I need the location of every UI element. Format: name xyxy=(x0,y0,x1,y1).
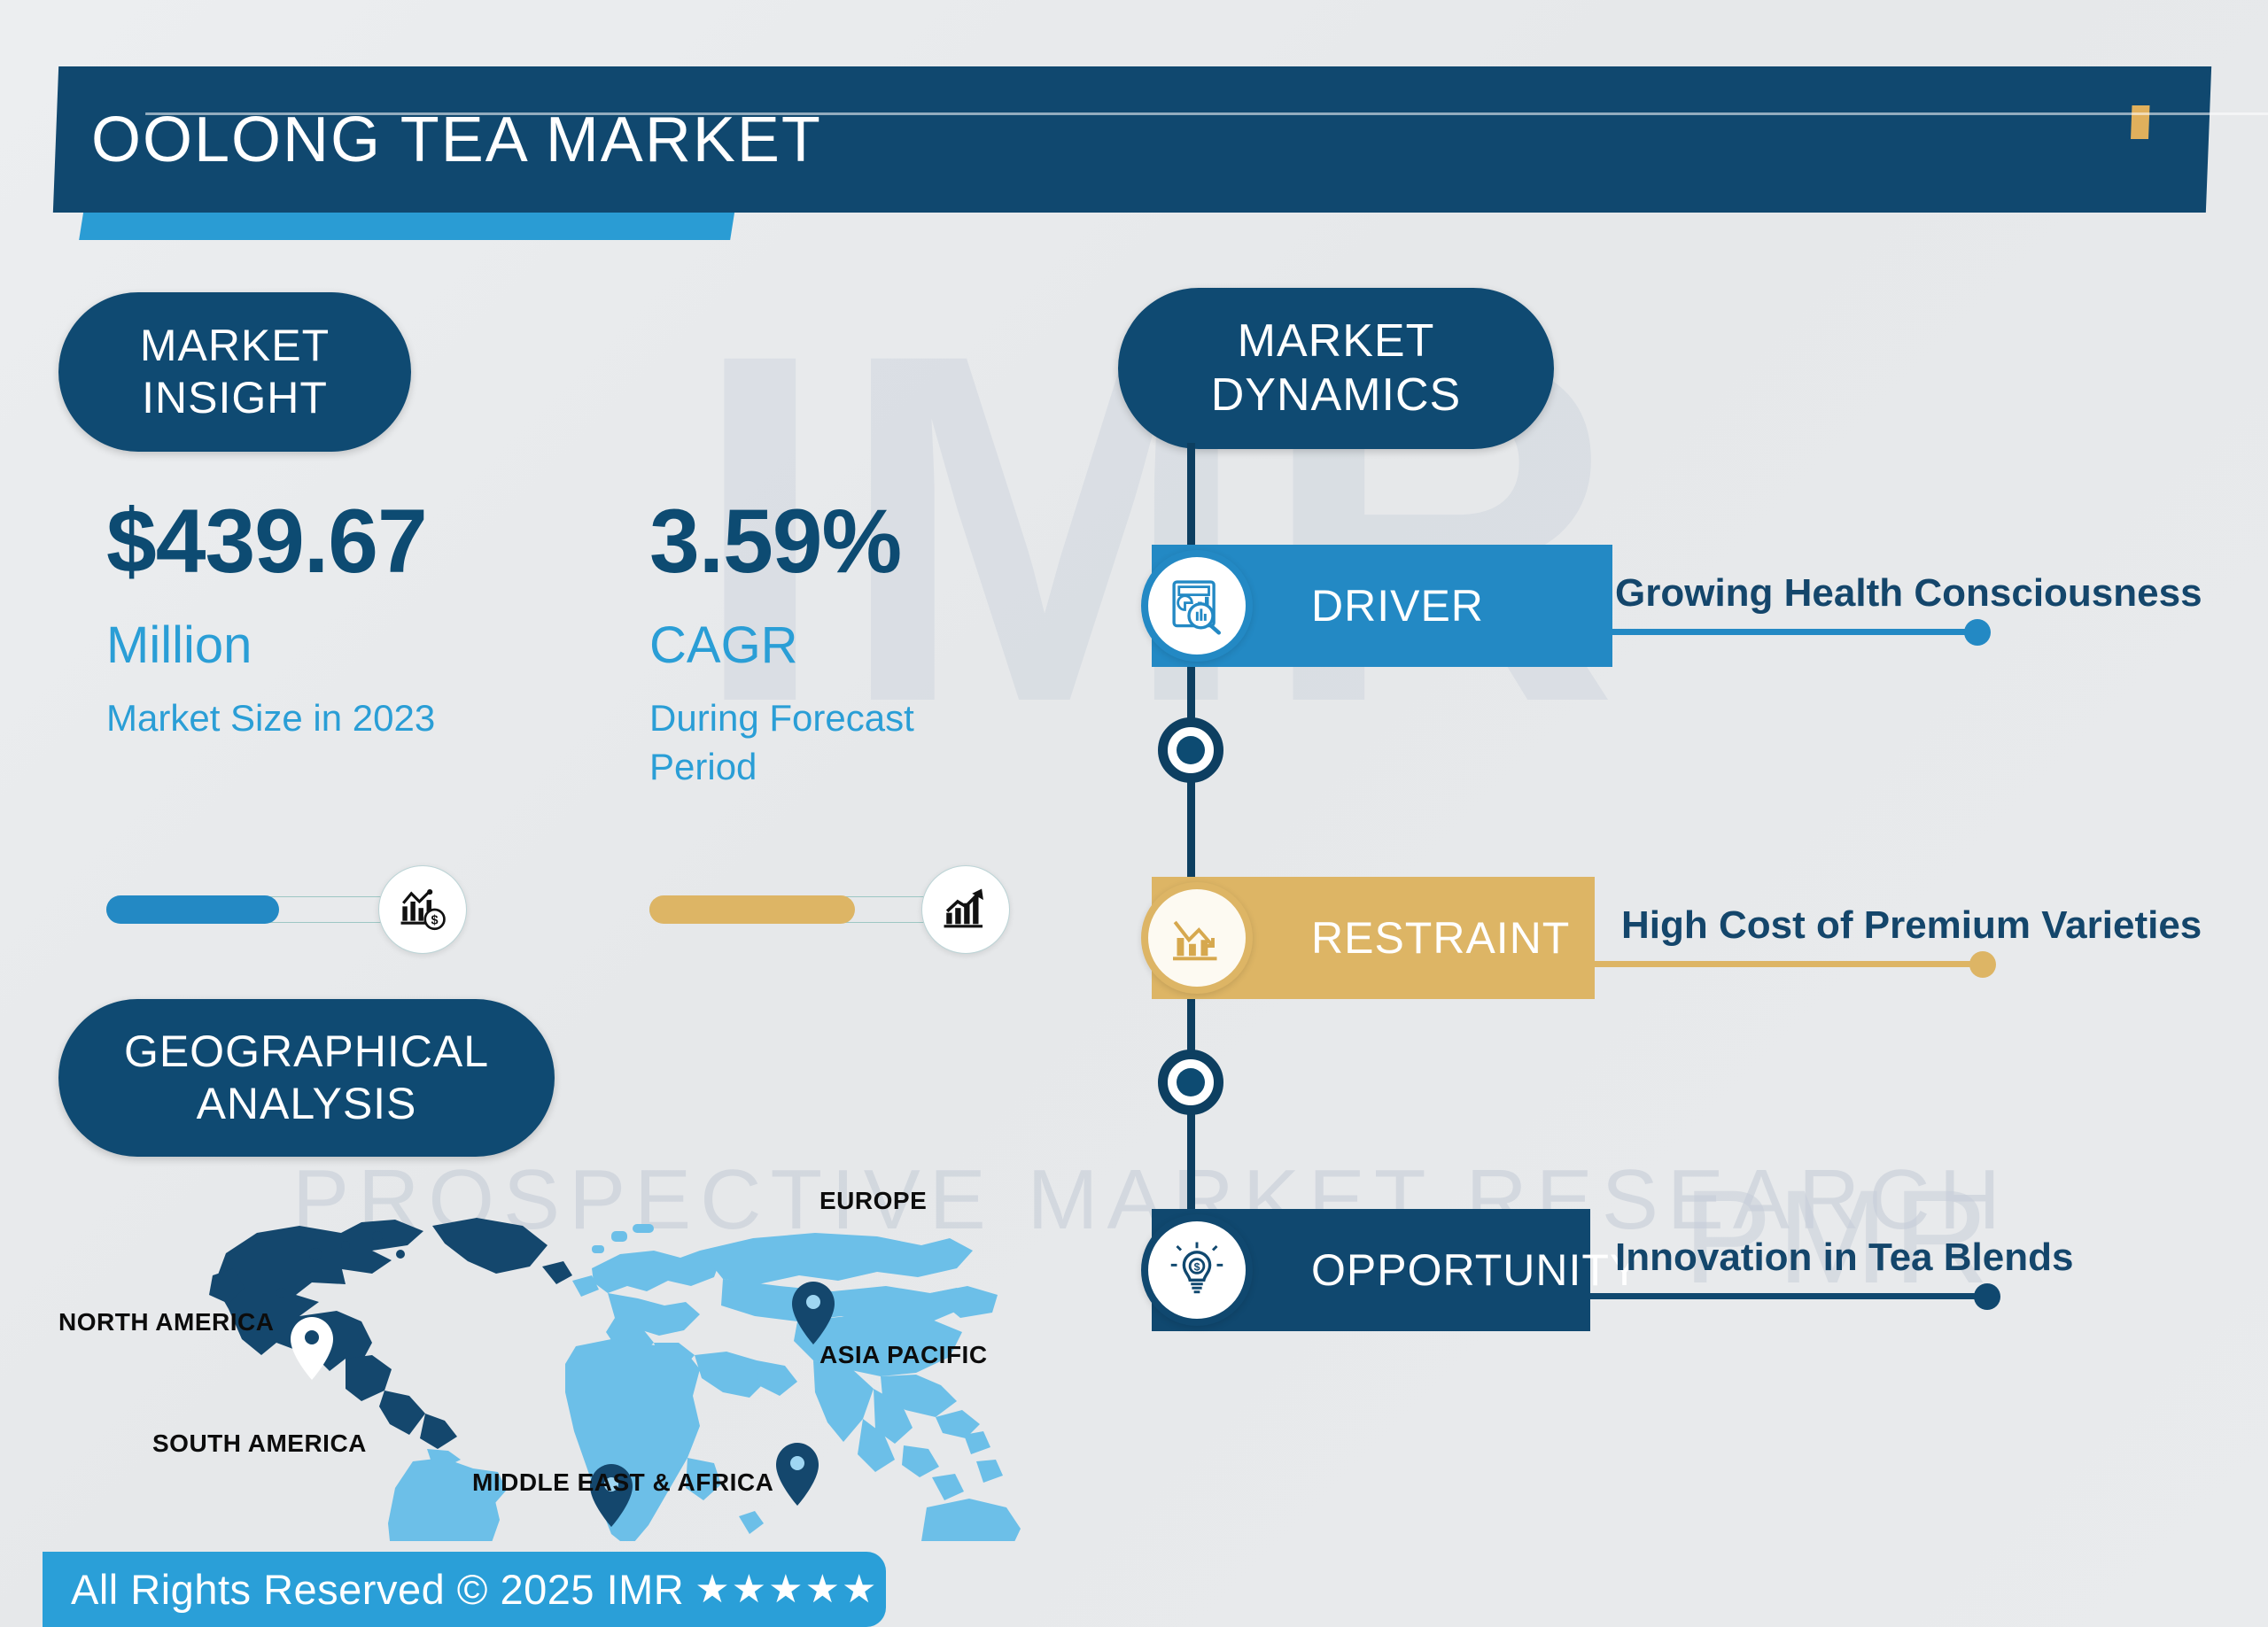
header-hairline xyxy=(145,112,2268,115)
market-insight-badge: MARKET INSIGHT xyxy=(58,292,411,452)
dynamics-node-dot-1 xyxy=(1158,717,1223,783)
map-label-south-america: SOUTH AMERICA xyxy=(152,1429,367,1458)
geo-badge-line2: ANALYSIS xyxy=(197,1078,417,1130)
footer-bar: All Rights Reserved © 2025 IMR ★★★★★ xyxy=(43,1552,886,1627)
declining-bar-chart-icon xyxy=(1141,882,1253,994)
market-insight-badge-line1: MARKET xyxy=(140,320,330,372)
dynamics-opportunity-text: Innovation in Tea Blends xyxy=(1615,1236,2073,1280)
map-label-middle-east-africa: MIDDLE EAST & AFRICA xyxy=(472,1468,773,1497)
copyright-text: All Rights Reserved © 2025 IMR xyxy=(71,1565,684,1614)
market-dynamics-badge: MARKET DYNAMICS xyxy=(1118,288,1554,449)
svg-text:$: $ xyxy=(431,913,439,927)
map-label-north-america: NORTH AMERICA xyxy=(58,1308,274,1336)
bar-chart-dollar-icon: $ xyxy=(378,865,467,954)
dynamics-restraint-connector xyxy=(1595,961,1984,967)
cagr-stat: 3.59% CAGR During Forecast Period xyxy=(649,496,1021,791)
cagr-value: 3.59% xyxy=(649,496,1021,586)
dynamics-opportunity-knob xyxy=(1974,1283,2000,1310)
cagr-subtitle: During Forecast Period xyxy=(649,694,1021,791)
map-region-north-asia xyxy=(700,1233,998,1323)
dynamics-restraint-knob xyxy=(1969,951,1996,978)
market-size-value: $439.67 xyxy=(106,496,435,586)
svg-text:$: $ xyxy=(1194,1261,1200,1274)
map-label-europe: EUROPE xyxy=(819,1187,927,1215)
market-dynamics-badge-line2: DYNAMICS xyxy=(1211,368,1461,422)
dynamics-opportunity-connector xyxy=(1590,1293,1989,1299)
header-bar: OOLONG TEA MARKET xyxy=(53,66,2211,213)
market-size-stat: $439.67 Million Market Size in 2023 xyxy=(106,496,435,743)
map-pin-asia-pacific xyxy=(776,1443,819,1506)
dynamics-driver-connector xyxy=(1607,629,1979,635)
market-size-progress: $ xyxy=(106,890,461,931)
dynamics-driver-knob xyxy=(1964,619,1991,646)
dynamics-node-dot-2 xyxy=(1158,1050,1223,1115)
dynamics-restraint-label: RESTRAINT xyxy=(1311,912,1570,964)
map-region-australia xyxy=(921,1499,1031,1541)
growth-arrow-chart-icon xyxy=(921,865,1010,954)
market-size-unit: Million xyxy=(106,620,435,671)
cagr-progress-fill xyxy=(649,895,855,924)
cagr-progress xyxy=(649,890,1004,931)
market-size-subtitle: Market Size in 2023 xyxy=(106,694,435,743)
rating-stars-icon: ★★★★★ xyxy=(695,1567,878,1612)
header-gold-tab-icon xyxy=(2131,105,2149,139)
map-region-middle-east xyxy=(695,1352,797,1398)
dynamics-driver-text: Growing Health Consciousness xyxy=(1615,571,2202,616)
map-label-asia-pacific: ASIA PACIFIC xyxy=(819,1341,988,1369)
report-magnifier-icon xyxy=(1141,550,1253,662)
lightbulb-dollar-icon: $ xyxy=(1141,1214,1253,1326)
infographic-root: IMR PROSPECTIVE MARKET RESEARCH PMR OOLO… xyxy=(0,0,2268,1627)
header-accent-underbar xyxy=(79,208,735,240)
market-dynamics-badge-line1: MARKET xyxy=(1238,314,1435,368)
map-pin-north-america xyxy=(291,1317,333,1380)
market-insight-badge-line2: INSIGHT xyxy=(142,372,328,424)
market-size-progress-fill xyxy=(106,895,279,924)
dynamics-restraint-text: High Cost of Premium Varieties xyxy=(1621,903,2202,948)
cagr-unit: CAGR xyxy=(649,620,1021,671)
geo-badge-line1: GEOGRAPHICAL xyxy=(124,1026,489,1078)
dynamics-opportunity-label: OPPORTUNITY xyxy=(1311,1244,1640,1296)
dynamics-driver-label: DRIVER xyxy=(1311,580,1484,631)
geographical-analysis-badge: GEOGRAPHICAL ANALYSIS xyxy=(58,999,555,1157)
